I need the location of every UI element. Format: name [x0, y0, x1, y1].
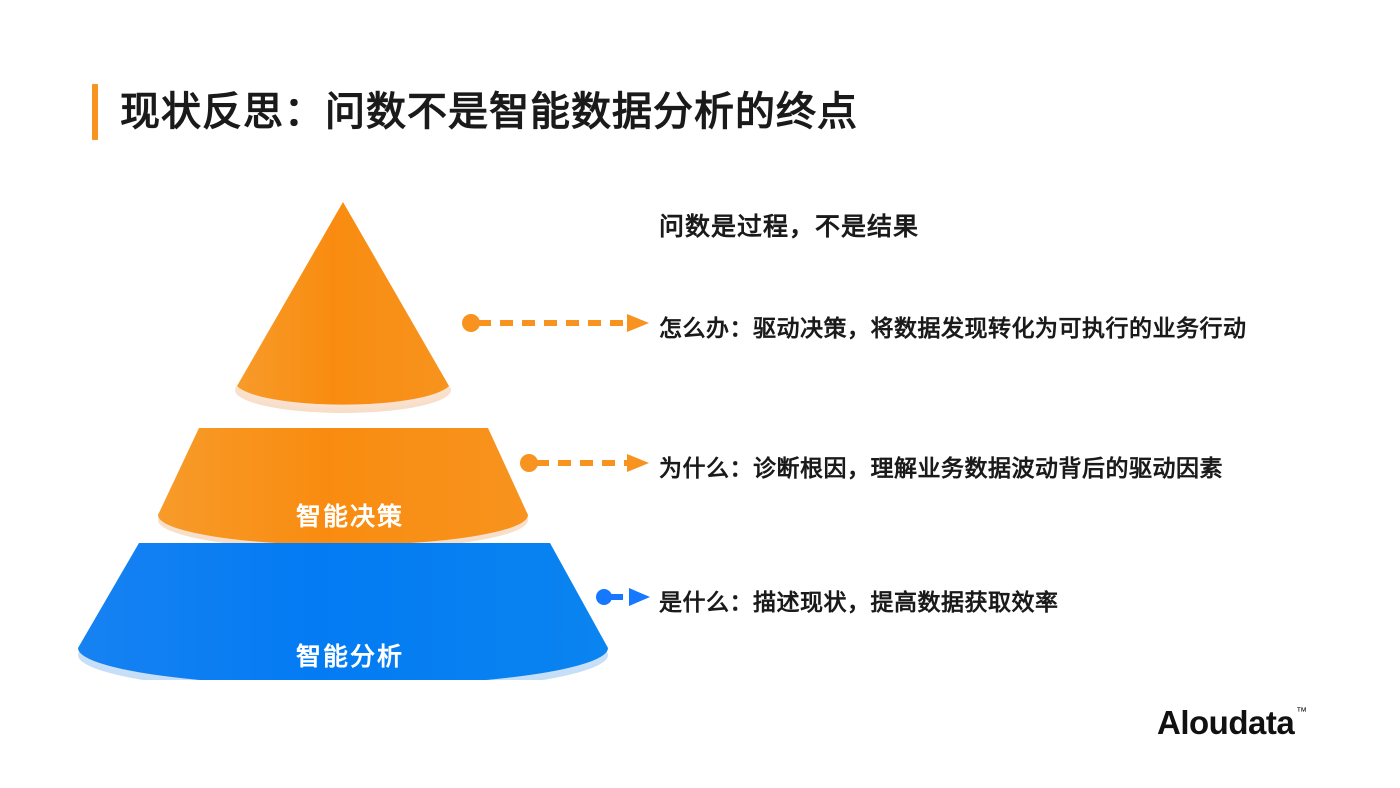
- tier-label-middle: 智能分析: [60, 637, 640, 673]
- tier-top-shape: [237, 202, 449, 405]
- trademark-symbol: ™: [1296, 707, 1307, 718]
- callout-row-0-text: 怎么办：驱动决策，将数据发现转化为可执行的业务行动: [659, 309, 1247, 343]
- tier-label-top: 智能决策: [60, 497, 640, 533]
- dashed-arrow-icon-row-0: [462, 312, 652, 334]
- title-text: 现状反思：问数不是智能数据分析的终点: [120, 92, 858, 132]
- tier-label-bottom: 智能问数: [60, 771, 640, 788]
- dashed-arrow-icon-row-1: [520, 452, 652, 474]
- title-accent-bar: [92, 84, 98, 140]
- pyramid-diagram: 智能决策 智能分析 智能问数: [60, 190, 640, 680]
- page-title: 现状反思：问数不是智能数据分析的终点: [92, 84, 858, 140]
- brand-logo-wordmark: Aloudata: [1157, 706, 1294, 739]
- callout-row-1-text: 为什么：诊断根因，理解业务数据波动背后的驱动因素: [659, 449, 1223, 483]
- slide-canvas: 现状反思：问数不是智能数据分析的终点: [0, 0, 1400, 788]
- callout-row-2-text: 是什么：描述现状，提高数据获取效率: [659, 583, 1059, 617]
- dashed-arrow-icon-row-2: [596, 586, 652, 608]
- brand-logo: Aloudata ™: [1157, 706, 1307, 739]
- callout-kicker: 问数是过程，不是结果: [659, 207, 919, 243]
